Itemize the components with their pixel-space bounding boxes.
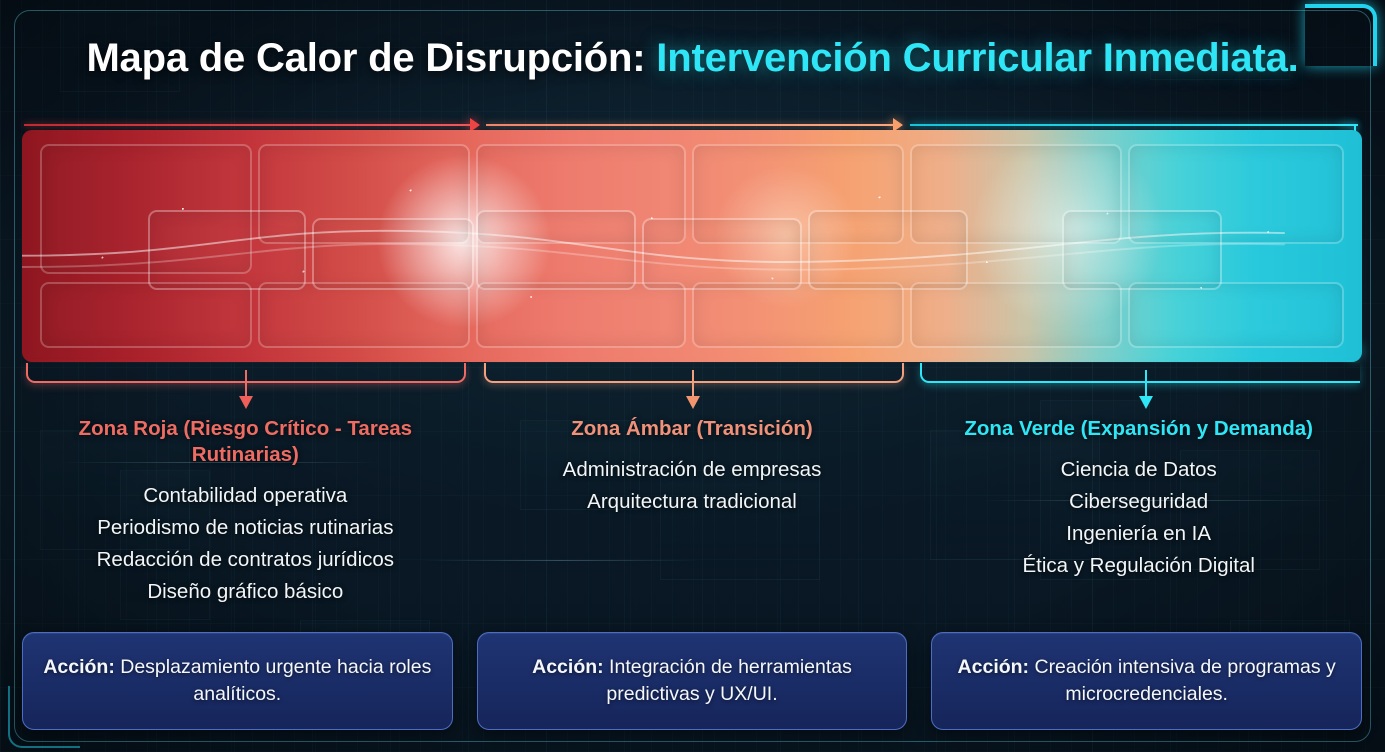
- zone-drop-arrow-amber-icon: [686, 396, 700, 409]
- zone-column-roja: Zona Roja (Riesgo Crítico - Tareas Rutin…: [22, 416, 469, 626]
- action-card-roja[interactable]: Acción: Desplazamiento urgente hacia rol…: [22, 632, 453, 730]
- zone-drop-arrow-cyan-icon: [1139, 396, 1153, 409]
- action-card-ambar[interactable]: Acción: Integración de herramientas pred…: [477, 632, 908, 730]
- heatmap-tile: [40, 144, 252, 274]
- heatmap-tiles: [22, 130, 1362, 362]
- page-title-accent: Intervención Curricular Inmediata.: [656, 36, 1298, 80]
- arrow-line-red: [24, 124, 474, 126]
- list-item: Arquitectura tradicional: [479, 486, 906, 518]
- action-text-roja: Acción: Desplazamiento urgente hacia rol…: [41, 654, 434, 708]
- heatmap-tile: [642, 218, 802, 290]
- heatmap-tile: [692, 144, 904, 244]
- heatmap-tile: [258, 282, 470, 348]
- zone-column-verde: Zona Verde (Expansión y Demanda) Ciencia…: [915, 416, 1362, 626]
- heatmap-tile: [1062, 210, 1222, 290]
- zone-drop-line-red: [245, 370, 247, 398]
- action-body-verde: Creación intensiva de programas y microc…: [1029, 656, 1336, 705]
- heatmap-tile: [258, 144, 470, 244]
- heatmap-tile: [692, 282, 904, 348]
- heatmap-wave: [22, 218, 1285, 278]
- arrow-line-amber: [486, 124, 896, 126]
- action-cards: Acción: Desplazamiento urgente hacia rol…: [22, 632, 1362, 730]
- heatmap-tile: [1128, 282, 1344, 348]
- action-body-ambar: Integración de herramientas predictivas …: [604, 656, 852, 705]
- action-text-verde: Acción: Creación intensiva de programas …: [950, 654, 1343, 708]
- zone-title-verde: Zona Verde (Expansión y Demanda): [925, 416, 1352, 442]
- zone-drop-arrow-red-icon: [239, 396, 253, 409]
- list-item: Administración de empresas: [479, 454, 906, 486]
- list-item: Ciberseguridad: [925, 486, 1352, 518]
- zone-list-roja: Contabilidad operativa Periodismo de not…: [32, 480, 459, 607]
- list-item: Contabilidad operativa: [32, 480, 459, 512]
- disruption-heatmap: [22, 130, 1362, 362]
- heatmap-tile: [476, 210, 636, 290]
- action-body-roja: Desplazamiento urgente hacia roles analí…: [115, 656, 432, 705]
- list-item: Ingeniería en IA: [925, 518, 1352, 550]
- heatmap-tile: [148, 210, 306, 290]
- zone-drop-line-amber: [692, 370, 694, 398]
- heatmap-tile: [40, 282, 252, 348]
- heatmap-tile: [910, 282, 1122, 348]
- zone-drop-line-cyan: [1145, 370, 1147, 398]
- heatmap-tile: [1128, 144, 1344, 244]
- action-label-roja: Acción:: [43, 656, 115, 678]
- list-item: Ética y Regulación Digital: [925, 550, 1352, 582]
- heatmap-tile: [476, 144, 686, 244]
- heatmap-tile: [808, 210, 968, 290]
- list-item: Periodismo de noticias rutinarias: [32, 512, 459, 544]
- list-item: Redacción de contratos jurídicos: [32, 544, 459, 576]
- heatmap-tile: [312, 218, 474, 290]
- zone-bracket-cyan: [920, 363, 1360, 383]
- zone-list-verde: Ciencia de Datos Ciberseguridad Ingenier…: [925, 454, 1352, 581]
- zone-list-ambar: Administración de empresas Arquitectura …: [479, 454, 906, 518]
- zone-columns: Zona Roja (Riesgo Crítico - Tareas Rutin…: [22, 416, 1362, 626]
- zone-column-ambar: Zona Ámbar (Transición) Administración d…: [469, 416, 916, 626]
- page-title: Mapa de Calor de Disrupción: Intervenció…: [0, 36, 1385, 80]
- arrow-line-cyan: [910, 124, 1358, 126]
- heatmap-tile: [476, 282, 686, 348]
- action-card-verde[interactable]: Acción: Creación intensiva de programas …: [931, 632, 1362, 730]
- page-title-main: Mapa de Calor de Disrupción:: [86, 36, 656, 80]
- action-text-ambar: Acción: Integración de herramientas pred…: [496, 654, 889, 708]
- zone-title-ambar: Zona Ámbar (Transición): [479, 416, 906, 442]
- list-item: Diseño gráfico básico: [32, 576, 459, 608]
- zone-bracket-amber: [484, 363, 904, 383]
- list-item: Ciencia de Datos: [925, 454, 1352, 486]
- heatmap-particles: [22, 130, 1362, 362]
- action-label-ambar: Acción:: [532, 656, 604, 678]
- action-label-verde: Acción:: [958, 656, 1030, 678]
- infographic-canvas: Mapa de Calor de Disrupción: Intervenció…: [0, 0, 1385, 752]
- heatmap-tile: [910, 144, 1122, 244]
- heatmap-glow: [22, 130, 1362, 362]
- zone-title-roja: Zona Roja (Riesgo Crítico - Tareas Rutin…: [32, 416, 459, 468]
